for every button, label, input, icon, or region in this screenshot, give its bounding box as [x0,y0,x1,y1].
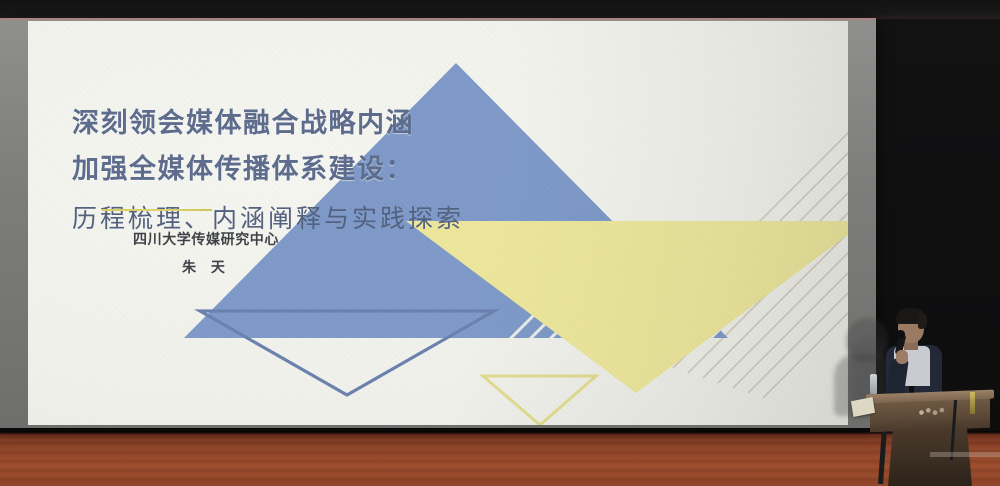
lectern-emblem-icon [914,404,948,418]
presenter-hair-side [918,313,927,329]
projection-screen-frame: 深刻领会媒体融合战略内涵 加强全媒体传播体系建设： 历程梳理、内涵阐释与实践探索… [0,18,876,428]
slide-author: 朱 天 [96,253,316,283]
projection-screen-surface: 深刻领会媒体融合战略内涵 加强全媒体传播体系建设： 历程梳理、内涵阐释与实践探索… [28,21,848,425]
slide-text-block: 深刻领会媒体融合战略内涵 加强全媒体传播体系建设： 历程梳理、内涵阐释与实践探索 [72,101,612,245]
glasses-icon [897,323,917,327]
water-bottle [870,374,877,394]
presenter-hand [896,350,908,364]
slide-title-line-2: 加强全媒体传播体系建设： [72,147,612,193]
hall-ceiling [0,0,1000,19]
slide-title-line-1: 深刻领会媒体融合战略内涵 [72,101,612,147]
lectern-base [888,428,972,486]
lectern-leg [878,428,887,484]
slide-affiliation: 四川大学传媒研究中心 [96,227,316,253]
stage-light-reflection [970,392,975,414]
microphone-head-icon [896,330,905,338]
conference-stage-scene: 深刻领会媒体融合战略内涵 加强全媒体传播体系建设： 历程梳理、内涵阐释与实践探索… [0,0,1000,486]
yellow-outline-triangle [483,376,596,425]
stage-floor [0,434,1000,486]
floor-light-strip [930,452,1000,457]
slide-byline-block: 四川大学传媒研究中心 朱 天 [96,227,316,283]
gold-divider-rule [102,209,212,211]
